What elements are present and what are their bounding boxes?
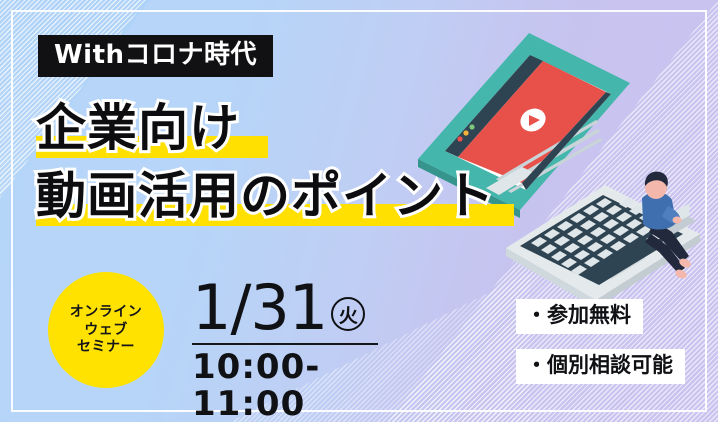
- feature-chip-free: ・参加無料: [516, 299, 643, 334]
- seminar-type-badge: オンライン ウェブ セミナー: [48, 272, 164, 388]
- date-row: 1/31 火: [192, 275, 382, 337]
- day-of-week-badge: 火: [331, 297, 365, 331]
- seminar-type-line-3: セミナー: [77, 340, 135, 355]
- headline: 企業向け 動画活用のポイント: [36, 98, 495, 228]
- event-time: 10:00-11:00: [192, 349, 382, 422]
- seminar-type-line-1: オンライン: [70, 305, 143, 320]
- seminar-type-line-2: ウェブ: [84, 323, 128, 338]
- feature-list: ・参加無料 ・個別相談可能: [516, 299, 718, 384]
- headline-text-1: 企業向け: [36, 98, 240, 158]
- headline-line-2: 動画活用のポイント: [36, 166, 495, 228]
- event-date: 1/31: [192, 279, 327, 337]
- eyebrow-badge: Withコロナ時代: [38, 35, 273, 77]
- seminar-banner: Withコロナ時代 企業向け 動画活用のポイント オンライン ウェブ セミナー …: [0, 0, 718, 422]
- feature-chip-consultation: ・個別相談可能: [516, 349, 685, 384]
- headline-line-1: 企業向け: [36, 98, 495, 160]
- headline-text-2: 動画活用のポイント: [36, 166, 495, 226]
- schedule-block: 1/31 火 10:00-11:00: [192, 275, 382, 422]
